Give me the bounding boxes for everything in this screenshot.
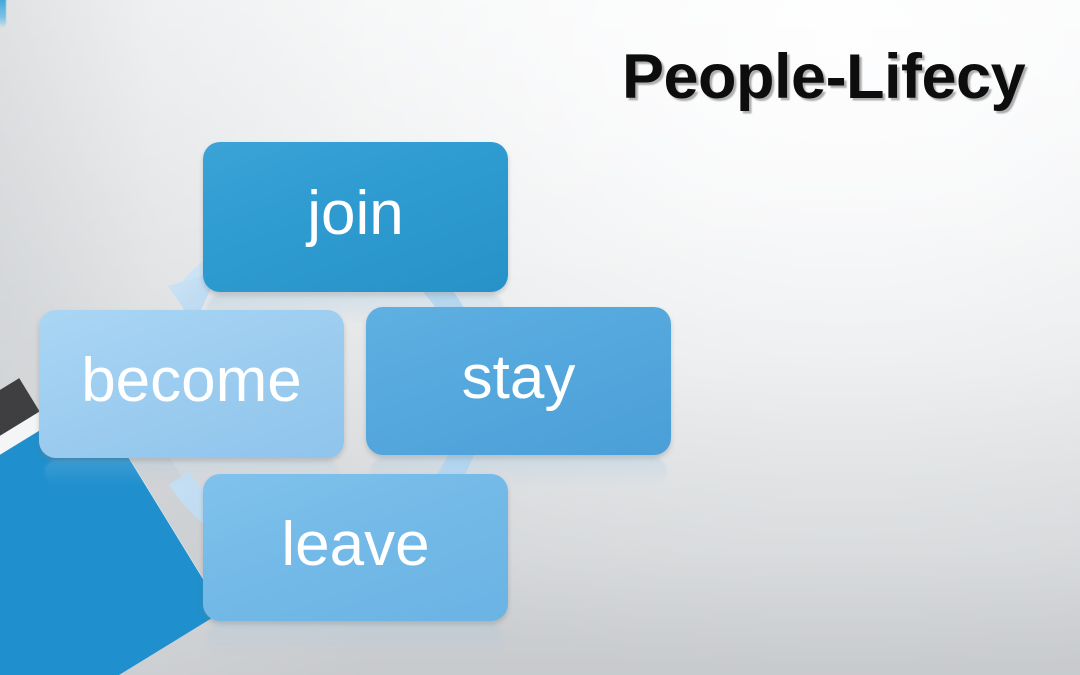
page-title: People-Lifecy [622,41,1025,113]
cycle-node-leave-label: leave [281,514,429,582]
cycle-node-become-label: become [81,350,302,418]
cycle-node-join-label: join [307,183,404,251]
cycle-node-stay-label: stay [462,347,576,415]
slide-canvas: join become stay leave People-Lifecy [0,0,1080,675]
cycle-node-join[interactable]: join [203,142,508,292]
cycle-node-stay[interactable]: stay [366,307,671,455]
cycle-node-leave[interactable]: leave [203,474,508,621]
cycle-node-become[interactable]: become [39,310,344,458]
corner-accent-bar [0,0,6,28]
